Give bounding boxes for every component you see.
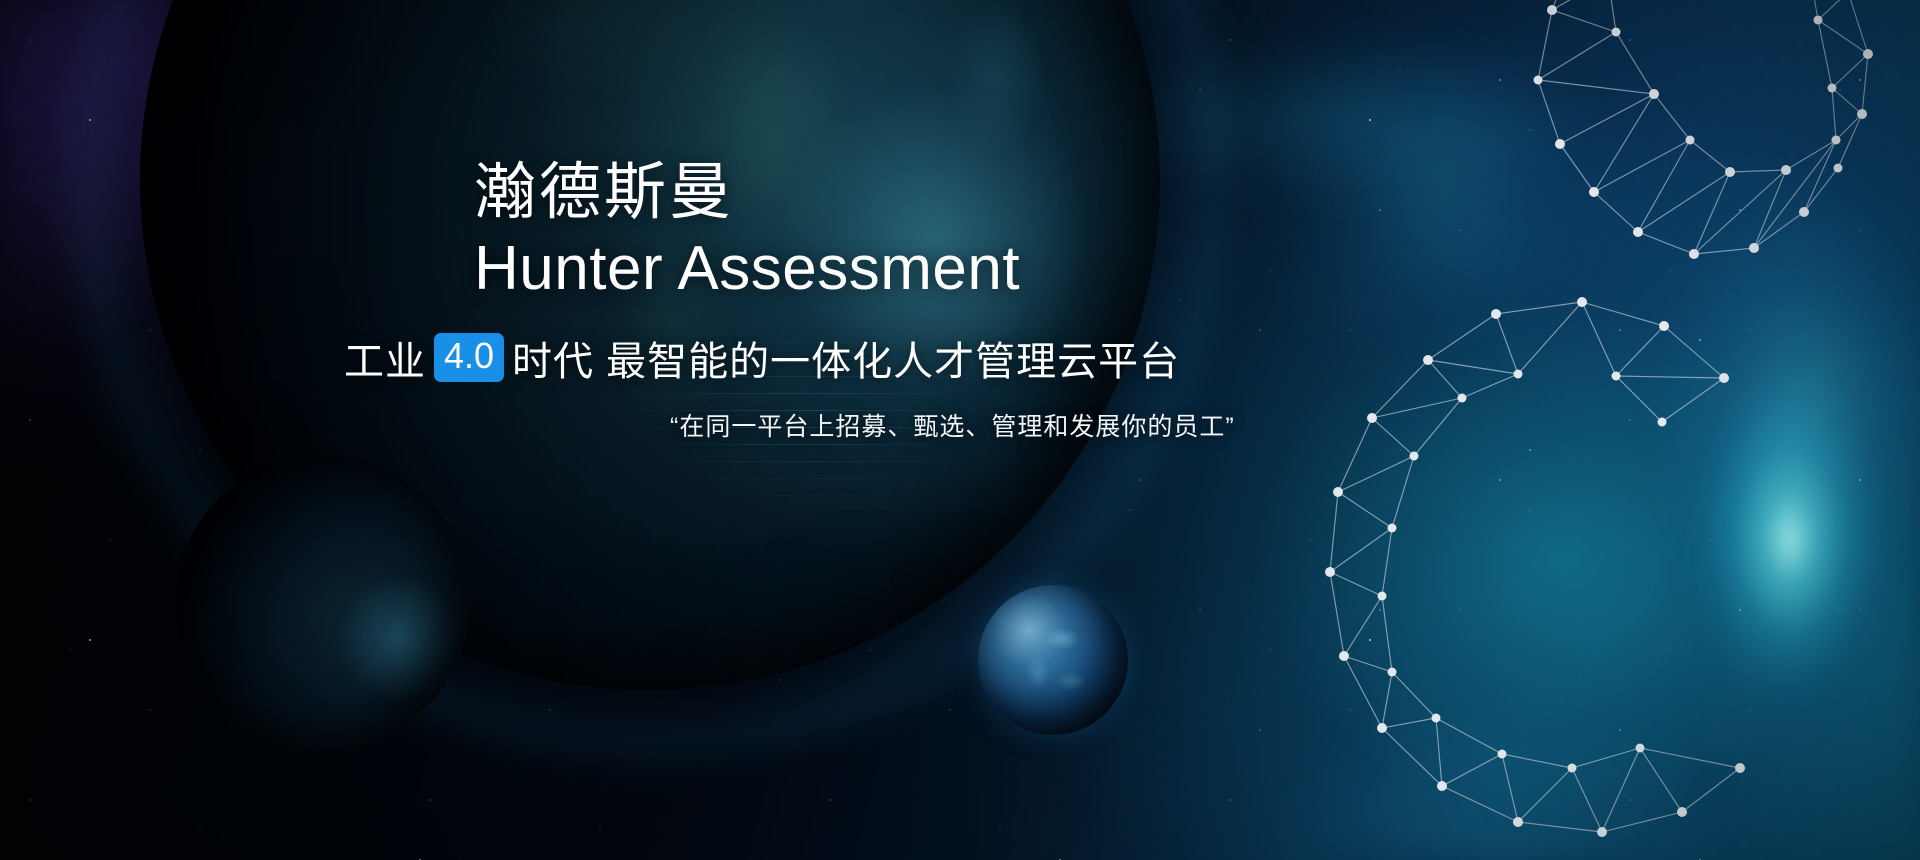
- network-edges: [1538, 0, 1868, 254]
- dark-moon: [175, 455, 470, 750]
- blue-moon: [978, 585, 1128, 735]
- hero-banner: 瀚德斯曼 Hunter Assessment 工业 4.0 时代 最智能的一体化…: [0, 0, 1920, 860]
- hero-quote: “在同一平台上招募、甄选、管理和发展你的员工”: [670, 407, 1474, 443]
- tagline-suffix: 时代 最智能的一体化人才管理云平台: [512, 329, 1180, 387]
- hero-copy: 瀚德斯曼 Hunter Assessment 工业 4.0 时代 最智能的一体化…: [474, 160, 1474, 443]
- brand-title-cn: 瀚德斯曼: [474, 160, 1474, 226]
- hero-tagline: 工业 4.0 时代 最智能的一体化人才管理云平台: [344, 329, 1474, 387]
- tagline-prefix: 工业: [344, 329, 426, 387]
- industry-version-badge: 4.0: [434, 333, 504, 382]
- brand-title-en: Hunter Assessment: [474, 236, 1474, 303]
